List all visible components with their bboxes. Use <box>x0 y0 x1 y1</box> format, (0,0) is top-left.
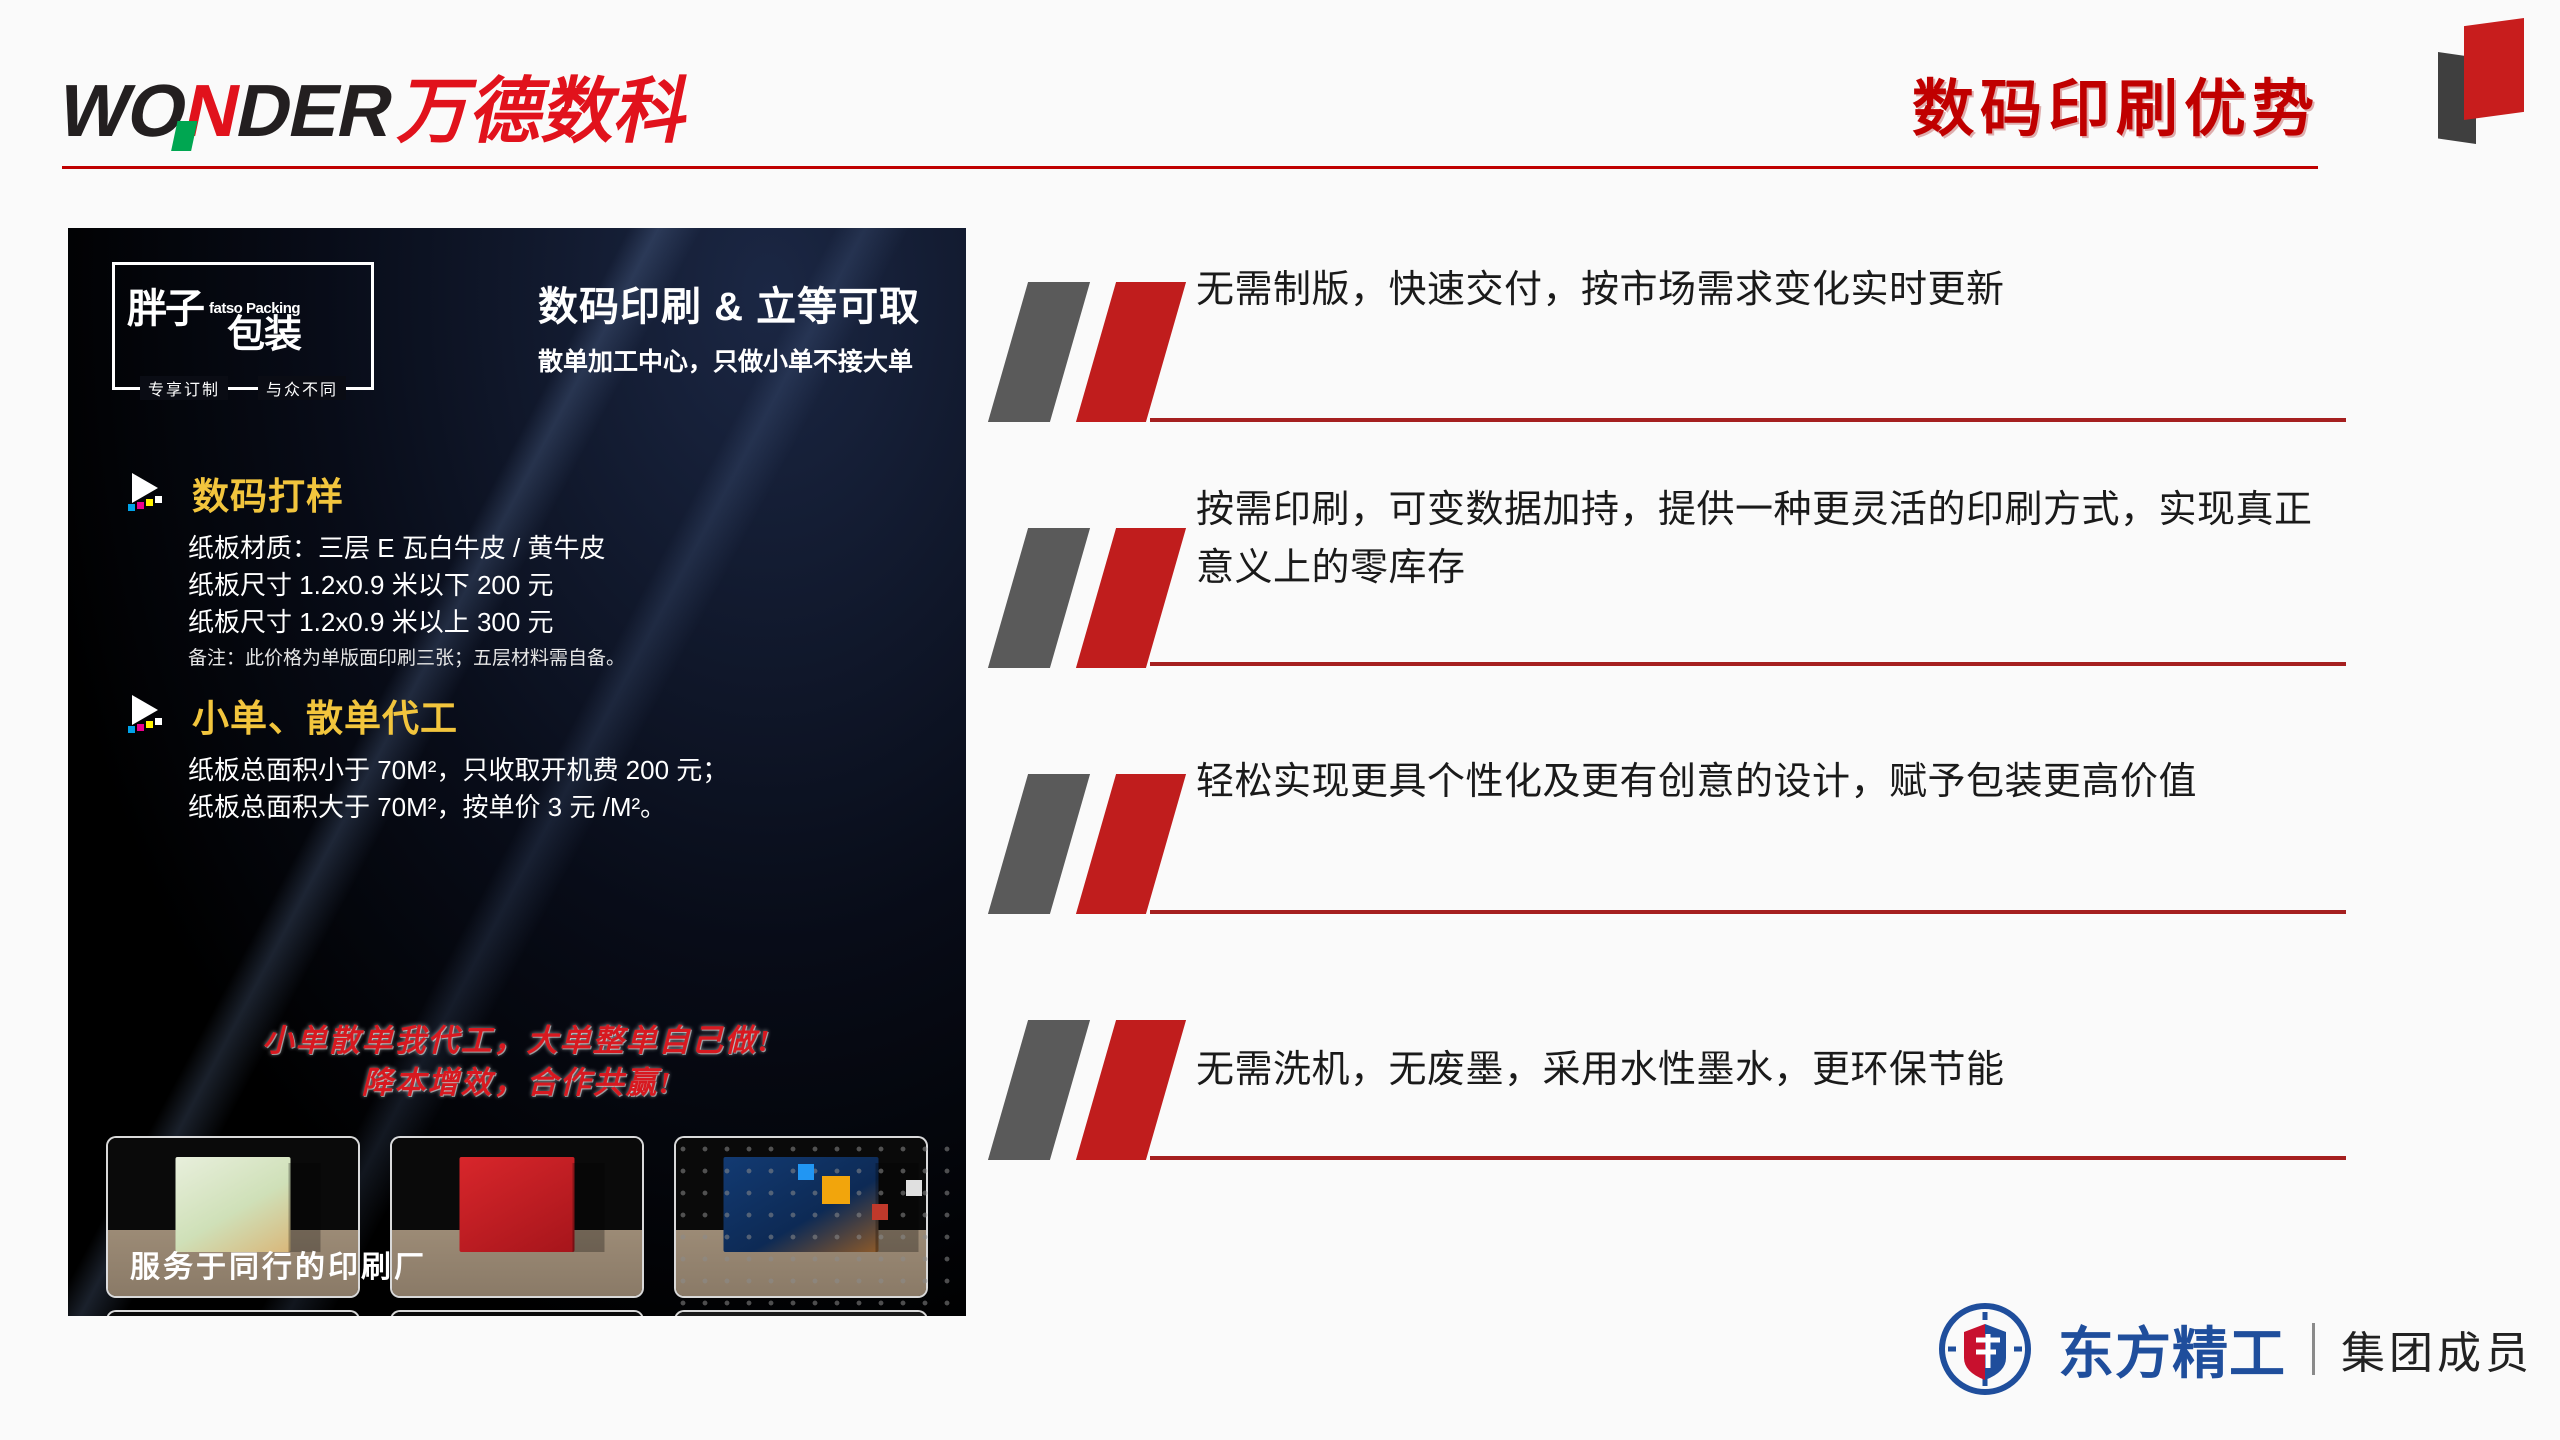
fatso-logo-chinese-2: 包装 <box>227 303 301 358</box>
advantage-text-1: 无需制版，快速交付，按市场需求变化实时更新 <box>1196 262 2336 332</box>
poster-section-digital-proofing: 数码打样 纸板材质：三层 E 瓦白牛皮 / 黄牛皮 纸板尺寸 1.2x0.9 米… <box>126 466 625 673</box>
marker-red-bar <box>1076 282 1186 422</box>
poster-section-1-line-2: 纸板尺寸 1.2x0.9 米以下 200 元 <box>188 567 625 604</box>
poster-headline-block: 数码印刷 & 立等可取 散单加工中心，只做小单不接大单 <box>538 274 938 378</box>
fatso-packing-logo: 胖子 fatso Packing 包装 专享订制 与众不同 <box>112 262 374 390</box>
header-divider <box>62 166 2318 169</box>
wonder-wordmark: WONDER <box>52 68 401 153</box>
advantage-text-3: 轻松实现更具个性化及更有创意的设计，赋予包装更高价值 <box>1196 754 2336 824</box>
poster-section-2-body: 纸板总面积小于 70M²，只收取开机费 200 元； 纸板总面积大于 70M²，… <box>126 752 728 826</box>
fatso-tagline-right: 与众不同 <box>258 376 346 400</box>
marker-gray-bar <box>988 1020 1090 1160</box>
advantage-underline-1 <box>1150 418 2346 422</box>
poster-section-2-line-2: 纸板总面积大于 70M²，按单价 3 元 /M²。 <box>188 789 728 826</box>
marker-gray-bar <box>988 282 1090 422</box>
advantage-underline-2 <box>1150 662 2346 666</box>
chevron-arrow-icon <box>126 471 178 515</box>
marker-red-bar <box>1076 1020 1186 1160</box>
slide-root: WONDER 万德数科 数码印刷优势 胖子 fatso Packing 包装 专… <box>0 0 2560 1440</box>
marker-red-bar <box>1076 774 1186 914</box>
poster-slogan-line-2: 降本增效，合作共赢! <box>68 1062 966 1104</box>
double-slash-marker-icon <box>1000 274 1190 424</box>
dot-accent-red <box>872 1204 888 1220</box>
poster-section-1-body: 纸板材质：三层 E 瓦白牛皮 / 黄牛皮 纸板尺寸 1.2x0.9 米以下 20… <box>126 530 625 673</box>
corner-decoration-icon <box>2438 18 2548 144</box>
advantage-item-2: 按需印刷，可变数据加持，提供一种更灵活的印刷方式，实现真正意义上的零库存 <box>1000 508 2340 668</box>
product-photo <box>108 1312 358 1316</box>
product-photo <box>392 1312 642 1316</box>
fatso-logo-chinese-1: 胖子 <box>127 289 203 329</box>
poster-section-small-orders: 小单、散单代工 纸板总面积小于 70M²，只收取开机费 200 元； 纸板总面积… <box>126 688 728 826</box>
poster-section-2-title: 小单、散单代工 <box>192 688 458 742</box>
advantage-item-4: 无需洗机，无废墨，采用水性墨水，更环保节能 <box>1000 1000 2340 1160</box>
product-photo <box>676 1312 926 1316</box>
group-member-logo: 东方精工 集团成员 <box>1938 1302 2533 1396</box>
chevron-arrow-icon <box>126 693 178 737</box>
poster-section-2-line-1: 纸板总面积小于 70M²，只收取开机费 200 元； <box>188 752 728 789</box>
slide-header: WONDER 万德数科 数码印刷优势 <box>0 0 2560 170</box>
double-slash-marker-icon <box>1000 1012 1190 1162</box>
fatso-tagline-left: 专享订制 <box>140 376 228 400</box>
marker-gray-bar <box>988 528 1090 668</box>
dot-accent-blue <box>798 1164 814 1180</box>
advantage-item-3: 轻松实现更具个性化及更有创意的设计，赋予包装更高价值 <box>1000 754 2340 914</box>
dot-accent-white <box>906 1180 922 1196</box>
poster-subheadline: 散单加工中心，只做小单不接大单 <box>538 342 938 378</box>
poster-slogan: 小单散单我代工，大单整单自己做! 降本增效，合作共赢! <box>68 1020 966 1103</box>
promo-poster-image: 胖子 fatso Packing 包装 专享订制 与众不同 数码印刷 & 立等可… <box>68 228 966 1316</box>
wonder-brand-chinese: 万德数科 <box>392 52 702 157</box>
poster-section-2-header: 小单、散单代工 <box>126 688 728 742</box>
advantage-item-1: 无需制版，快速交付，按市场需求变化实时更新 <box>1000 262 2340 422</box>
poster-section-1-line-3: 纸板尺寸 1.2x0.9 米以上 300 元 <box>188 604 625 641</box>
fatso-logo-taglines: 专享订制 与众不同 <box>115 376 371 400</box>
double-slash-marker-icon <box>1000 766 1190 916</box>
wonder-brand-logo: WONDER 万德数科 <box>51 52 702 157</box>
poster-footer-text: 服务于同行的印刷厂 <box>130 1242 427 1286</box>
wonder-wordmark-part3: DER <box>230 68 401 153</box>
poster-section-1-line-1: 纸板材质：三层 E 瓦白牛皮 / 黄牛皮 <box>188 530 625 567</box>
marker-gray-bar <box>988 774 1090 914</box>
page-title: 数码印刷优势 <box>1912 58 2320 148</box>
corner-decoration-red-shape <box>2464 18 2524 120</box>
group-member-label: 集团成员 <box>2341 1317 2533 1381</box>
dongfang-shield-icon <box>1938 1302 2032 1396</box>
poster-section-1-header: 数码打样 <box>126 466 625 520</box>
advantages-list: 无需制版，快速交付，按市场需求变化实时更新 按需印刷，可变数据加持，提供一种更灵… <box>1000 262 2340 1160</box>
poster-headline: 数码印刷 & 立等可取 <box>538 274 938 332</box>
poster-section-1-title: 数码打样 <box>192 466 344 520</box>
halftone-dot-pattern <box>672 1138 966 1308</box>
marker-red-bar <box>1076 528 1186 668</box>
advantage-underline-3 <box>1150 910 2346 914</box>
advantage-text-2: 按需印刷，可变数据加持，提供一种更灵活的印刷方式，实现真正意义上的零库存 <box>1196 482 2336 610</box>
double-slash-marker-icon <box>1000 520 1190 670</box>
dot-accent-orange <box>822 1176 850 1204</box>
advantage-underline-4 <box>1150 1156 2346 1160</box>
poster-slogan-line-1: 小单散单我代工，大单整单自己做! <box>68 1020 966 1062</box>
poster-section-1-note: 备注：此价格为单版面印刷三张；五层材料需自备。 <box>188 645 625 674</box>
product-photo <box>392 1138 642 1296</box>
company-name: 东方精工 <box>2058 1309 2286 1390</box>
logo-divider <box>2312 1323 2315 1375</box>
poster-header: 胖子 fatso Packing 包装 专享订制 与众不同 数码印刷 & 立等可… <box>68 228 966 418</box>
advantage-text-4: 无需洗机，无废墨，采用水性墨水，更环保节能 <box>1196 1042 2336 1112</box>
